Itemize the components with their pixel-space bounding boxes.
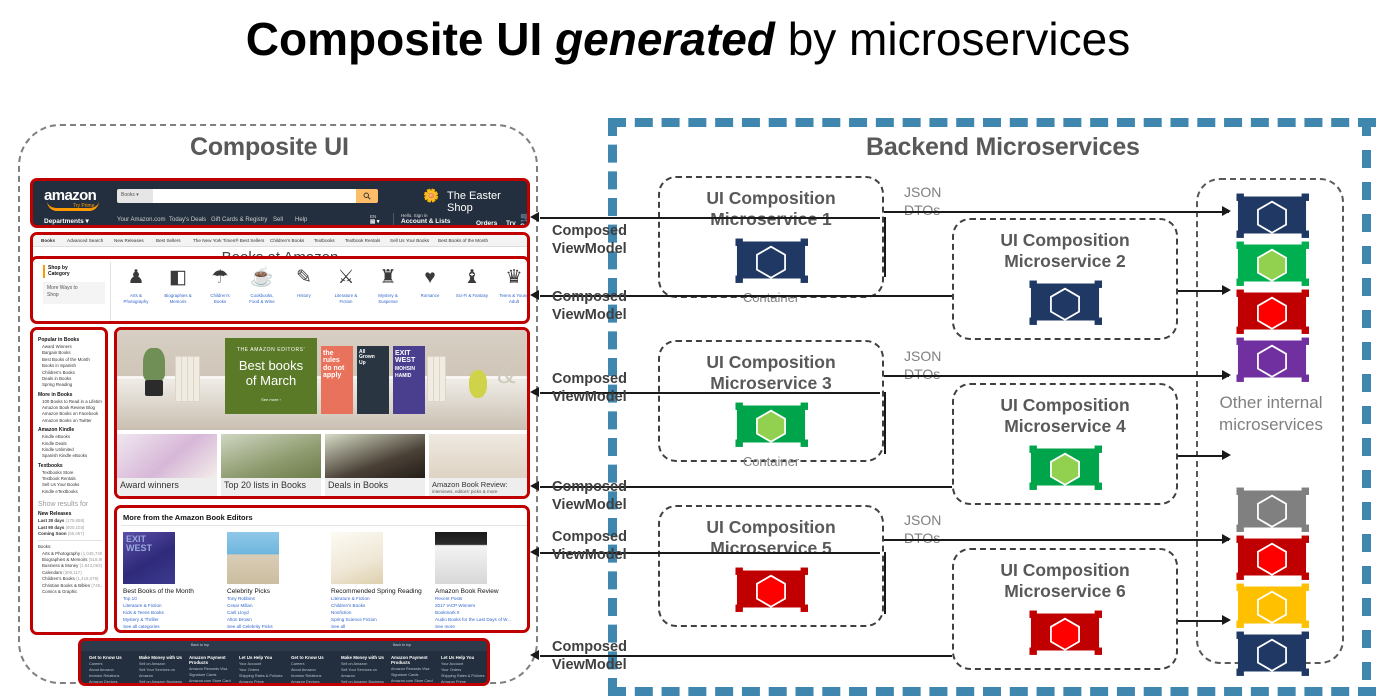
subnav-item-8[interactable]: Sell Us Your Books (390, 238, 429, 243)
editors-link[interactable]: See all Celebrity Picks (227, 624, 327, 631)
container-glyph (1028, 609, 1102, 655)
category-sidebar: Shop byCategory More Ways toShop (36, 262, 111, 322)
composed-viewmodel-label: ComposedViewModel (552, 478, 627, 514)
editors-column: Celebrity PicksTony RobbinsCesar MillanC… (227, 532, 327, 631)
editors-column: Recommended Spring ReadingLiterature & F… (331, 532, 431, 631)
tile-award-winners[interactable]: Award winners (117, 434, 217, 498)
container-glyph (734, 401, 808, 447)
shop-by-category-header: Shop byCategory (43, 265, 70, 278)
container-glyph (1235, 486, 1309, 532)
category-label: Teens & YoungAdult (493, 293, 530, 304)
category-wizard[interactable]: ♝Sci-Fi & Fantasy (451, 265, 493, 299)
search-input[interactable] (153, 189, 356, 203)
container-glyph (1235, 288, 1309, 334)
category-crossed-swords[interactable]: ⚔Literature &Fiction (325, 265, 367, 304)
amazon-logo-text: amazon (44, 187, 96, 204)
sidebar-link[interactable]: Spring Reading (42, 382, 102, 388)
departments-menu[interactable]: Departments ▾ (44, 217, 89, 225)
camera-icon: ♟ (115, 265, 157, 291)
connector-line (1178, 620, 1228, 622)
internal-container-4 (1235, 336, 1309, 387)
connector-line (540, 217, 880, 219)
nav-link-0[interactable]: Your Amazon.com (117, 217, 165, 223)
category-label: Literature &Fiction (325, 293, 367, 304)
hero-title: Best booksof March (225, 359, 317, 389)
language-selector[interactable]: EN ▤ ▾ (370, 214, 380, 225)
category-label: Biographies &Memoirs (157, 293, 199, 304)
editors-link[interactable]: 2017 IACP Winners (435, 603, 530, 610)
arrow-head-left (530, 387, 539, 397)
hero-book-1: therulesdo notapply (321, 346, 353, 414)
internal-container-1 (1235, 192, 1309, 243)
subnav-item-4[interactable]: The New York Times® Best Sellers (193, 238, 264, 243)
sidebar-link[interactable]: Amazon Books on Facebook (42, 411, 102, 417)
tile-image (117, 434, 217, 478)
editors-link[interactable]: See more (435, 624, 530, 631)
footer-link[interactable]: Amazon Prime (441, 680, 490, 686)
books-filter-item[interactable]: Comics & Graphic (42, 589, 102, 595)
footer-column-header: Get to Know Us (89, 655, 139, 660)
title-rest: by microservices (788, 13, 1131, 65)
arrow-head-right (1222, 615, 1231, 625)
category-open-book[interactable]: ◧Biographies &Memoirs (157, 265, 199, 304)
composed-viewmodel-label: ComposedViewModel (552, 222, 627, 258)
composed-viewmodel-label: ComposedViewModel (552, 528, 627, 564)
footer-top-bar[interactable]: Back to top Back to top (81, 641, 487, 651)
footer-link[interactable]: Amazon.com Store Card (189, 679, 239, 685)
container-glyph (1235, 534, 1309, 580)
internal-container-3 (1235, 288, 1309, 339)
category-magnifier-hat[interactable]: ♜Mystery &Suspense (367, 265, 409, 304)
hero-book-3: EXITWESTMOHSINHAMID (393, 346, 425, 414)
ampersand-decor: & (497, 360, 516, 388)
internal-container-8 (1235, 630, 1309, 681)
editors-link[interactable]: Bookmark It (435, 610, 530, 617)
arrow-head-left (530, 547, 539, 557)
editors-thumbnail[interactable] (227, 532, 279, 584)
sidebar-link[interactable]: Amazon Books on Twitter (42, 418, 102, 424)
editors-link[interactable]: Top 10 (123, 596, 223, 603)
nav-link-3[interactable]: Sell (273, 217, 283, 223)
search-icon (363, 192, 371, 200)
books-filter-item[interactable]: Christian Books & Bibles (749,268) (42, 583, 102, 589)
tile-amazon-book-review[interactable]: Amazon Book Review: interviews, editors'… (429, 434, 529, 498)
ui-composition-microservice-4[interactable]: UI CompositionMicroservice 4 (952, 383, 1178, 505)
editors-link[interactable]: Literature & Fiction (331, 596, 431, 603)
connector-line (1178, 455, 1228, 457)
footer-link[interactable]: Amazon.com Corporate Credit Line (189, 685, 239, 686)
ms-title: UI CompositionMicroservice 4 (954, 395, 1176, 438)
sidebar-group-header: Textbooks (38, 463, 102, 469)
footer-column: Let Us Help YouYour AccountYour OrdersSh… (441, 655, 490, 686)
more-from-editors-block: More from the Amazon Book Editors EXITWE… (114, 505, 530, 633)
container-glyph (1028, 279, 1102, 325)
tile-top20-lists[interactable]: Top 20 lists in Books (221, 434, 321, 498)
editors-link[interactable]: Carli Lloyd (227, 610, 327, 617)
editors-link[interactable]: See all categories (123, 624, 223, 631)
editors-link[interactable]: Literature & Fiction (123, 603, 223, 610)
tile-caption-main: Amazon Book Review: (432, 480, 507, 489)
shop-by-category-block: Shop byCategory More Ways toShop ♟Arts &… (30, 256, 530, 324)
editors-column-title: Recommended Spring Reading (331, 588, 431, 596)
footer-link[interactable]: Amazon.com Corporate Credit Line (391, 685, 441, 686)
footer-column: Get to Know UsCareersAbout AmazonInvesto… (291, 655, 341, 686)
ui-composition-microservice-3[interactable]: UI CompositionMicroservice 3 Container (658, 340, 884, 462)
tile-caption: Deals in Books (328, 480, 388, 490)
editors-link[interactable]: Spring Science Fiction (331, 617, 431, 624)
category-toy[interactable]: ☂Children'sBooks (199, 265, 241, 304)
connector-line (1178, 290, 1228, 292)
subnav-item-1[interactable]: Advanced Search (67, 238, 103, 243)
editors-link[interactable]: Children's Books (331, 603, 431, 610)
category-cooking-pot[interactable]: ☕Cookbooks,Food & Wine (241, 265, 283, 304)
footer-link[interactable]: Amazon Rewards Visa Signature Cards (189, 667, 239, 679)
arrow-head-right (1222, 206, 1231, 216)
search-button[interactable] (356, 189, 378, 203)
amazon-left-sidebar[interactable]: Popular in BooksAward WinnersBargain Boo… (30, 327, 108, 635)
footer-column-header: Amazon Payment Products (189, 655, 239, 665)
category-camera[interactable]: ♟Arts &Photography (115, 265, 157, 304)
footer-link[interactable]: Amazon Prime (239, 680, 289, 686)
sidebar-group-header: More in Books (38, 392, 102, 398)
composed-viewmodel-label: ComposedViewModel (552, 370, 627, 406)
category-label: Romance (409, 293, 451, 299)
amazon-footer-block: Back to top Back to top Get to Know UsCa… (78, 638, 490, 686)
arrow-head-left (530, 290, 539, 300)
footer-column: Let Us Help YouYour AccountYour OrdersSh… (239, 655, 289, 686)
more-ways-to-shop[interactable]: More Ways toShop (43, 282, 105, 304)
search-category-dropdown[interactable]: Books ▾ (117, 189, 153, 203)
footer-link[interactable]: Amazon Devices (291, 680, 341, 686)
editors-column-title: Celebrity Picks (227, 588, 327, 596)
json-dtos-label: JSONDTOs (904, 512, 941, 547)
container-icon (1028, 444, 1102, 495)
footer-link[interactable]: Sell Your Apps on Amazon (341, 686, 391, 687)
editors-link[interactable]: Recent Posts (435, 596, 530, 603)
container-glyph (1028, 444, 1102, 490)
category-label: Children'sBooks (199, 293, 241, 304)
tile-image (429, 434, 529, 478)
container-glyph (1235, 192, 1309, 238)
editors-link[interactable]: Nonfiction (331, 610, 431, 617)
divider (121, 525, 529, 526)
ui-composition-microservice-1[interactable]: UI CompositionMicroservice 1 Container (658, 176, 884, 298)
ms-title: UI CompositionMicroservice 1 (660, 188, 882, 231)
tile-caption: Amazon Book Review: interviews, editors'… (432, 480, 507, 494)
editors-column: Amazon Book ReviewRecent Posts2017 IACP … (435, 532, 530, 631)
internal-container-6 (1235, 534, 1309, 585)
category-label: Mystery &Suspense (367, 293, 409, 304)
footer-link[interactable]: Sell on Amazon Business (341, 680, 391, 686)
footer-link[interactable]: Amazon Rewards Visa Signature Cards (391, 667, 441, 679)
container-icon (734, 237, 808, 288)
backend-heading: Backend Microservices (866, 133, 1140, 162)
arrow-head-right (1222, 370, 1231, 380)
ui-composition-microservice-2[interactable]: UI CompositionMicroservice 2 (952, 218, 1178, 340)
category-label: History (283, 293, 325, 299)
tile-image (325, 434, 425, 478)
container-glyph (1235, 630, 1309, 676)
tile-image (221, 434, 321, 478)
composite-ui-heading: Composite UI (190, 133, 349, 162)
category-quill[interactable]: ✎History (283, 265, 325, 299)
ms-caption: Container (660, 454, 882, 469)
search-category-label: Books (121, 192, 135, 198)
ms-title: UI CompositionMicroservice 3 (660, 352, 882, 395)
open-book-icon: ◧ (157, 265, 199, 291)
container-icon (734, 401, 808, 452)
sidebar-group-header: Popular in Books (38, 337, 102, 343)
hero-book-2: AllGrownUp (357, 346, 389, 414)
internal-container-7 (1235, 582, 1309, 633)
editors-link[interactable]: Cesar Millan (227, 603, 327, 610)
editors-column: EXITWESTBest Books of the MonthTop 10Lit… (123, 532, 223, 631)
footer-column-header: Make Money with Us (341, 655, 391, 660)
subnav-item-7[interactable]: Textbook Rentals (345, 238, 380, 243)
hero-banner[interactable]: THE AMAZON EDITORS' Best booksof March S… (117, 330, 527, 430)
footer-column-header: Let Us Help You (441, 655, 490, 660)
arrow-head-left (530, 650, 539, 660)
footer-column: Amazon Payment ProductsAmazon Rewards Vi… (391, 655, 441, 686)
show-results-for-label: Show results for (38, 501, 102, 508)
sidebar-link[interactable]: Spanish Kindle eBooks (42, 453, 102, 459)
back-to-top-0[interactable]: Back to top (191, 643, 209, 647)
footer-link[interactable]: Amazon Devices (89, 680, 139, 686)
connector-line (884, 375, 1229, 377)
category-label: Sci-Fi & Fantasy (451, 293, 493, 299)
nav-link-1[interactable]: Today's Deals (169, 217, 206, 223)
crossed-swords-icon: ⚔ (325, 265, 367, 291)
footer-link[interactable]: Amazon.com Store Card (391, 679, 441, 685)
container-icon (1028, 279, 1102, 330)
connector-line (884, 392, 886, 454)
footer-link[interactable]: Sell Your Services on Amazon (341, 668, 391, 680)
tile-caption: Top 20 lists in Books (224, 480, 306, 490)
composed-viewmodel-label: ComposedViewModel (552, 638, 627, 674)
tile-deals-in-books[interactable]: Deals in Books (325, 434, 425, 498)
orders-link[interactable]: Orders (476, 220, 497, 227)
editors-thumbnail[interactable] (331, 532, 383, 584)
arrow-head-right (1222, 285, 1231, 295)
container-glyph (1235, 582, 1309, 628)
nav-link-4[interactable]: Help (295, 217, 307, 223)
quill-icon: ✎ (283, 265, 325, 291)
subnav-item-3[interactable]: Best Sellers (156, 238, 181, 243)
subnav-item-0[interactable]: Books (41, 238, 55, 243)
arrow-head-left (530, 481, 539, 491)
tile-caption-sub: interviews, editors' picks & more (432, 489, 507, 494)
slide-canvas: Composite UI generated by microservices … (0, 0, 1376, 691)
footer-link[interactable]: Shipping Rates & Policies (441, 674, 490, 680)
footer-column: Make Money with UsSell on AmazonSell You… (341, 655, 391, 686)
cart-icon: 🛒 (520, 212, 530, 222)
hero-green-panel[interactable]: THE AMAZON EDITORS' Best booksof March S… (225, 338, 317, 414)
arrow-head-right (1222, 534, 1231, 544)
nav-link-2[interactable]: Gift Cards & Registry (211, 217, 267, 223)
footer-column: Get to Know UsCareersAbout AmazonInvesto… (89, 655, 139, 686)
ms-title: UI CompositionMicroservice 2 (954, 230, 1176, 273)
category-label: Cookbooks,Food & Wine (241, 293, 283, 304)
json-dtos-label: JSONDTOs (904, 348, 941, 383)
editors-link[interactable]: Audio Books for the Last Days of W... (435, 617, 530, 624)
footer-column: Make Money with UsSell on AmazonSell You… (139, 655, 189, 686)
container-glyph (1235, 336, 1309, 382)
category-people[interactable]: ♛Teens & YoungAdult (493, 265, 530, 304)
flag-icon: ▤ ▾ (370, 219, 380, 225)
amazon-nav-row: Departments ▾ Your Amazon.com Today's De… (33, 210, 527, 228)
try-prime-badge: Try Prime (73, 203, 94, 209)
container-glyph (1235, 240, 1309, 286)
ui-composition-microservice-5[interactable]: UI CompositionMicroservice 5 (658, 505, 884, 627)
books-subnav: Books Advanced Search New Releases Best … (33, 235, 527, 247)
new-releases-header: New Releases (38, 511, 102, 517)
editors-link[interactable]: Kids & Teens Books (123, 610, 223, 617)
footer-link[interactable]: Sell on Amazon Business (139, 680, 189, 686)
container-glyph (734, 237, 808, 283)
arrow-head-right (1222, 450, 1231, 460)
back-to-top-1[interactable]: Back to top (393, 643, 411, 647)
backend-frame-right-edge (1362, 118, 1371, 696)
internal-container-2 (1235, 240, 1309, 291)
editors-link[interactable]: Mystery & Thriller (123, 617, 223, 624)
wizard-icon: ♝ (451, 265, 493, 291)
container-icon (734, 566, 808, 617)
plant-decor (143, 348, 165, 382)
container-icon (1028, 609, 1102, 660)
connector-line (884, 217, 886, 277)
subnav-item-9[interactable]: Best Books of the Month (438, 238, 488, 243)
hero-cta[interactable]: See more › (225, 397, 317, 402)
pear-decor (469, 370, 487, 398)
magnifier-hat-icon: ♜ (367, 265, 409, 291)
footer-link[interactable]: Sell Your Services on Amazon (139, 668, 189, 680)
arrow-head-left (530, 212, 539, 222)
editors-column-title: Best Books of the Month (123, 588, 223, 596)
easter-flower-icon: 🌼 (423, 189, 439, 202)
composed-viewmodel-label: ComposedViewModel (552, 288, 627, 324)
ms-title: UI CompositionMicroservice 6 (954, 560, 1176, 603)
ui-composition-microservice-6[interactable]: UI CompositionMicroservice 6 (952, 548, 1178, 670)
subnav-item-2[interactable]: New Releases (114, 238, 144, 243)
category-heart[interactable]: ♥Romance (409, 265, 451, 299)
tile-caption: Award winners (120, 480, 179, 490)
title-bold: Composite UI (246, 13, 542, 65)
subnav-item-6[interactable]: Textbooks (314, 238, 335, 243)
title-italic: generated (555, 13, 775, 65)
footer-link[interactable]: Shipping Rates & Policies (239, 674, 289, 680)
editors-link[interactable]: See all (331, 624, 431, 631)
category-label: Arts &Photography (115, 293, 157, 304)
amazon-site-header: amazon Try Prime Books ▾ 🌼 The Easter Sh… (30, 178, 530, 228)
account-menu[interactable]: Hello. Sign in Account & Lists (393, 213, 450, 225)
sidebar-group-header: Amazon Kindle (38, 427, 102, 433)
editors-link[interactable]: Tony Robbins (227, 596, 327, 603)
footer-column-header: Make Money with Us (139, 655, 189, 660)
sidebar-content: Popular in BooksAward WinnersBargain Boo… (33, 330, 105, 595)
editors-thumbnail[interactable]: EXITWEST (123, 532, 175, 584)
page-title: Composite UI generated by microservices (0, 14, 1376, 65)
connector-line (884, 552, 886, 614)
editors-link[interactable]: Alton Brown (227, 617, 327, 624)
connector-line (884, 539, 1229, 541)
footer-column-header: Get to Know Us (291, 655, 341, 660)
hero-and-tiles-block: THE AMAZON EDITORS' Best booksof March S… (114, 327, 530, 499)
connector-line (884, 211, 1229, 213)
divider (38, 540, 102, 541)
editors-column-title: Amazon Book Review (435, 588, 530, 596)
footer-column-header: Let Us Help You (239, 655, 289, 660)
ms-caption: Container (660, 290, 882, 305)
internal-container-5 (1235, 486, 1309, 537)
container-glyph (734, 566, 808, 612)
toy-icon: ☂ (199, 265, 241, 291)
footer-link[interactable]: Sell Your Apps on Amazon (139, 686, 189, 687)
new-release-filter[interactable]: Coming Soon (55,067) (38, 531, 102, 537)
subnav-item-5[interactable]: Children's Books (270, 238, 304, 243)
json-dtos-label: JSONDTOs (904, 184, 941, 219)
other-internal-label: Other internalmicroservices (1204, 392, 1338, 436)
footer-column-header: Amazon Payment Products (391, 655, 441, 665)
people-icon: ♛ (493, 265, 530, 291)
heart-icon: ♥ (409, 265, 451, 291)
editors-thumbnail[interactable] (435, 532, 487, 584)
sidebar-link[interactable]: Kindle eTextbooks (42, 489, 102, 495)
footer-column: Amazon Payment ProductsAmazon Rewards Vi… (189, 655, 239, 686)
hero-kicker: THE AMAZON EDITORS' (225, 347, 317, 353)
pot-decor (145, 380, 163, 396)
cooking-pot-icon: ☕ (241, 265, 283, 291)
more-editors-header: More from the Amazon Book Editors (123, 513, 253, 522)
